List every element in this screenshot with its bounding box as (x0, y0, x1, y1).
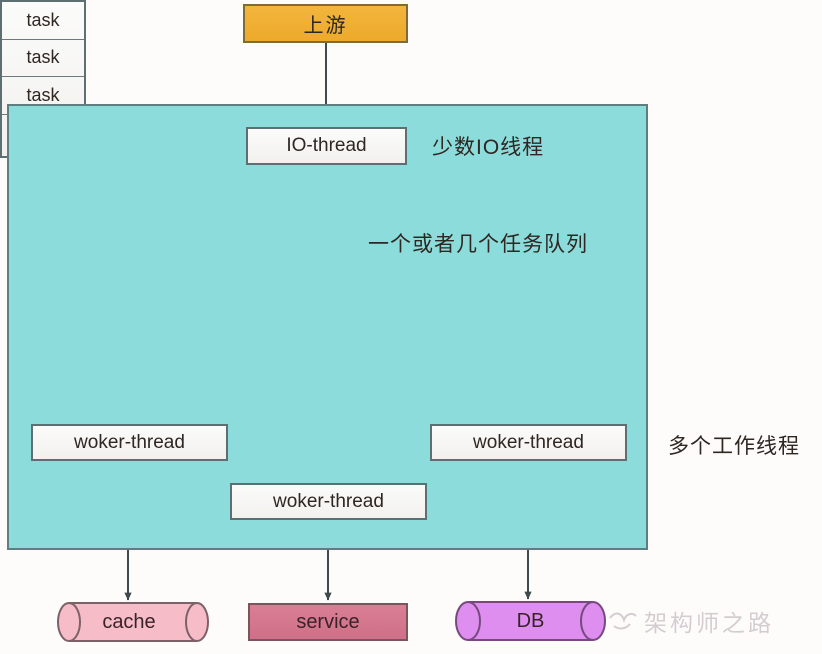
cache-store[interactable]: cache (50, 603, 208, 641)
worker-thread-label: woker-thread (273, 491, 384, 513)
io-thread-box[interactable]: IO-thread (246, 127, 407, 165)
worker-threads-note: 多个工作线程 (668, 430, 800, 460)
watermark-text: 架构师之路 (644, 604, 774, 638)
task-queue-note: 一个或者几个任务队列 (368, 228, 588, 258)
diagram-canvas: 上游 IO-thread 少数IO线程 task task task task … (0, 0, 822, 654)
io-thread-label: IO-thread (286, 135, 366, 157)
upstream-label: 上游 (304, 9, 348, 38)
worker-thread-label: woker-thread (74, 432, 185, 454)
upstream-box[interactable]: 上游 (243, 4, 408, 43)
service-label: service (296, 611, 359, 634)
worker-thread-right-box[interactable]: woker-thread (430, 424, 627, 461)
worker-thread-label: woker-thread (473, 432, 584, 454)
cache-label: cache (102, 611, 155, 634)
db-label: DB (517, 610, 545, 633)
io-thread-note: 少数IO线程 (432, 131, 544, 161)
worker-thread-left-box[interactable]: woker-thread (31, 424, 228, 461)
swallow-logo-icon (608, 608, 638, 634)
service-store[interactable]: service (248, 603, 408, 641)
db-store[interactable]: DB (453, 602, 608, 641)
watermark: 架构师之路 (608, 600, 820, 642)
worker-thread-middle-box[interactable]: woker-thread (230, 483, 427, 520)
